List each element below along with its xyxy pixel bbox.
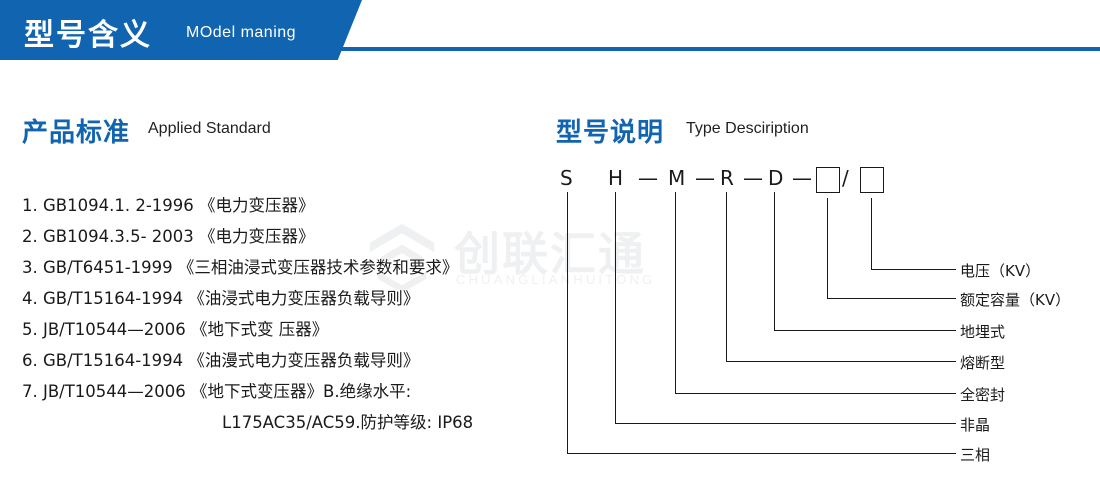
type-code-diagram: S H — M — R — D — / 电压（KV） 额定容量（KV） 地埋式 … (540, 150, 1100, 490)
leader-line-voltage-v (871, 198, 872, 270)
code-box-voltage (860, 167, 884, 193)
header-title-cn: 型号含义 (24, 10, 152, 54)
leader-label-buried: 地埋式 (960, 321, 1005, 342)
leader-label-capacity: 额定容量（KV） (960, 289, 1070, 310)
leader-label-fuse: 熔断型 (960, 352, 1005, 373)
list-item: 3. GB/T6451-1999 《三相油浸式变压器技术参数和要求》 (22, 252, 542, 283)
leader-label-sealed: 全密封 (960, 384, 1005, 405)
leader-line-fuse-h (726, 361, 956, 362)
leader-line-buried-v (774, 192, 775, 331)
code-dash-2: — (695, 166, 715, 190)
type-title-en: Type Desciription (686, 120, 809, 138)
leader-line-buried-h (774, 330, 956, 331)
code-char-s: S (560, 166, 573, 190)
list-item: 1. GB1094.1. 2-1996 《电力变压器》 (22, 190, 542, 221)
list-item: 2. GB1094.3.5- 2003 《电力变压器》 (22, 221, 542, 252)
header-rule-line (332, 47, 1100, 51)
list-item: 5. JB/T10544—2006 《地下式变 压器》 (22, 314, 542, 345)
leader-line-voltage-h (871, 269, 956, 270)
leader-line-sealed-v (675, 192, 676, 394)
leader-line-threephase-v (567, 192, 568, 454)
code-char-d: D (768, 166, 783, 190)
leader-line-amorphous-h (615, 423, 956, 424)
type-title-cn: 型号说明 (556, 112, 664, 149)
leader-line-capacity-v (827, 198, 828, 299)
leader-line-sealed-h (675, 393, 956, 394)
leader-line-capacity-h (827, 298, 956, 299)
list-item: 6. GB/T15164-1994 《油漫式电力变压器负载导则》 (22, 345, 542, 376)
code-char-h: H (608, 166, 623, 190)
list-item-continuation: L175AC35/AC59.防护等级: IP68 (22, 407, 542, 438)
code-dash-3: — (743, 166, 763, 190)
leader-line-fuse-v (726, 192, 727, 362)
header-title-en: MOdel maning (186, 24, 296, 42)
standards-list: 1. GB1094.1. 2-1996 《电力变压器》 2. GB1094.3.… (22, 190, 542, 438)
code-char-r: R (720, 166, 734, 190)
page-header: 型号含义 MOdel maning (0, 0, 1100, 60)
leader-label-voltage: 电压（KV） (960, 260, 1040, 281)
leader-line-threephase-h (567, 453, 956, 454)
leader-line-amorphous-v (615, 192, 616, 424)
code-box-capacity (816, 167, 840, 193)
leader-label-threephase: 三相 (960, 444, 990, 465)
code-char-m: M (668, 166, 685, 190)
leader-label-amorphous: 非晶 (960, 414, 990, 435)
standards-title-en: Applied Standard (148, 120, 271, 138)
list-item: 7. JB/T10544—2006 《地下式变压器》B.绝缘水平: (22, 376, 542, 407)
code-dash-1: — (638, 166, 658, 190)
standards-title-cn: 产品标准 (22, 112, 130, 149)
list-item: 4. GB/T15164-1994 《油浸式电力变压器负载导则》 (22, 283, 542, 314)
code-dash-4: — (792, 166, 812, 190)
code-slash: / (842, 166, 849, 190)
